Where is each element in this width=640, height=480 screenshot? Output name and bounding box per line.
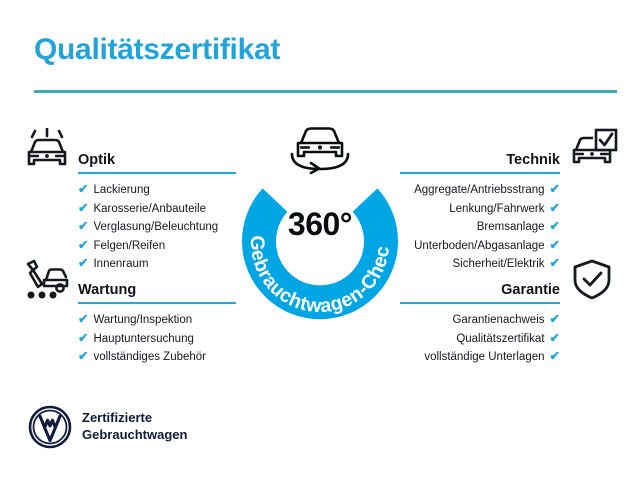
list-item: ✔Karosserie/Anbauteile	[22, 200, 236, 219]
list-item: ✔Verglasung/Beleuchtung	[22, 218, 236, 237]
check-icon: ✔	[550, 312, 560, 326]
section-garantie-list: Garantienachweis✔ Qualitätszertifikat✔ v…	[400, 311, 618, 367]
list-item: vollständige Unterlagen✔	[400, 348, 618, 367]
list-item: ✔Hauptuntersuchung	[22, 330, 236, 349]
section-optik-header: Optik	[22, 128, 236, 174]
section-garantie-title: Garantie	[501, 282, 560, 298]
section-technik-title: Technik	[506, 152, 560, 168]
section-garantie: Garantie Garantienachweis✔ Qualitätszert…	[400, 258, 618, 367]
list-item-label: Wartung/Inspektion	[93, 314, 192, 326]
list-item-label: vollständige Unterlagen	[424, 351, 544, 363]
list-item-label: Lackierung	[93, 184, 149, 196]
list-item-label: Felgen/Reifen	[93, 240, 165, 252]
check-icon: ✔	[550, 349, 560, 363]
car-rotation-icon	[283, 121, 357, 177]
section-optik-divider	[78, 172, 236, 174]
list-item-label: Garantienachweis	[452, 314, 544, 326]
list-item-label: vollständiges Zubehör	[93, 351, 206, 363]
list-item: Unterboden/Abgasanlage✔	[400, 237, 618, 256]
check-icon: ✔	[78, 219, 88, 233]
list-item-label: Lenkung/Fahrwerk	[449, 203, 544, 215]
footer-text: Zertifizierte Gebrauchtwagen	[82, 410, 187, 443]
footer-line-2: Gebrauchtwagen	[82, 427, 187, 444]
check-icon: ✔	[78, 238, 88, 252]
badge-360-check: Gebrauchtwagen-Check	[232, 155, 408, 331]
section-technik-header: Technik	[400, 128, 618, 174]
list-item: Lenkung/Fahrwerk✔	[400, 200, 618, 219]
list-item-label: Verglasung/Beleuchtung	[93, 221, 218, 233]
section-optik: Optik ✔Lackierung ✔Karosserie/Anbauteile…	[22, 128, 236, 274]
list-item-label: Qualitätszertifikat	[456, 333, 544, 345]
list-item-label: Karosserie/Anbauteile	[93, 203, 206, 215]
check-icon: ✔	[78, 331, 88, 345]
check-icon: ✔	[550, 238, 560, 252]
section-wartung-list: ✔Wartung/Inspektion ✔Hauptuntersuchung ✔…	[22, 311, 236, 367]
header-divider	[34, 90, 617, 93]
section-optik-title: Optik	[78, 152, 115, 168]
list-item: Garantienachweis✔	[400, 311, 618, 330]
check-icon: ✔	[78, 349, 88, 363]
list-item: ✔Felgen/Reifen	[22, 237, 236, 256]
check-icon: ✔	[550, 201, 560, 215]
car-checkbox-icon	[566, 128, 618, 177]
volkswagen-logo	[28, 405, 72, 449]
footer-line-1: Zertifizierte	[82, 410, 187, 427]
check-icon: ✔	[550, 182, 560, 196]
check-icon: ✔	[550, 219, 560, 233]
section-technik: Technik Aggregate/Antriebsstrang✔ Lenkun…	[400, 128, 618, 274]
list-item: Bremsanlage✔	[400, 218, 618, 237]
check-icon: ✔	[550, 331, 560, 345]
badge-degrees-label: 360°	[232, 206, 408, 243]
section-garantie-header: Garantie	[400, 258, 618, 304]
shield-check-icon	[566, 258, 618, 307]
section-wartung-title: Wartung	[78, 282, 136, 298]
page-title: Qualitätszertifikat	[34, 33, 280, 67]
list-item: Qualitätszertifikat✔	[400, 330, 618, 349]
section-technik-divider	[400, 172, 560, 174]
wrench-car-icon	[22, 258, 72, 307]
car-shine-icon	[22, 128, 72, 177]
section-wartung-divider	[78, 302, 236, 304]
list-item: ✔Lackierung	[22, 181, 236, 200]
check-icon: ✔	[78, 201, 88, 215]
section-garantie-divider	[400, 302, 560, 304]
list-item-label: Unterboden/Abgasanlage	[414, 240, 544, 252]
section-wartung: Wartung ✔Wartung/Inspektion ✔Hauptunters…	[22, 258, 236, 367]
section-wartung-header: Wartung	[22, 258, 236, 304]
list-item: ✔vollständiges Zubehör	[22, 348, 236, 367]
check-icon: ✔	[78, 312, 88, 326]
list-item-label: Aggregate/Antriebsstrang	[414, 184, 544, 196]
list-item-label: Hauptuntersuchung	[93, 333, 193, 345]
list-item: Aggregate/Antriebsstrang✔	[400, 181, 618, 200]
certificate-page: Qualitätszertifikat	[0, 0, 640, 480]
list-item: ✔Wartung/Inspektion	[22, 311, 236, 330]
check-icon: ✔	[78, 182, 88, 196]
list-item-label: Bremsanlage	[477, 221, 545, 233]
